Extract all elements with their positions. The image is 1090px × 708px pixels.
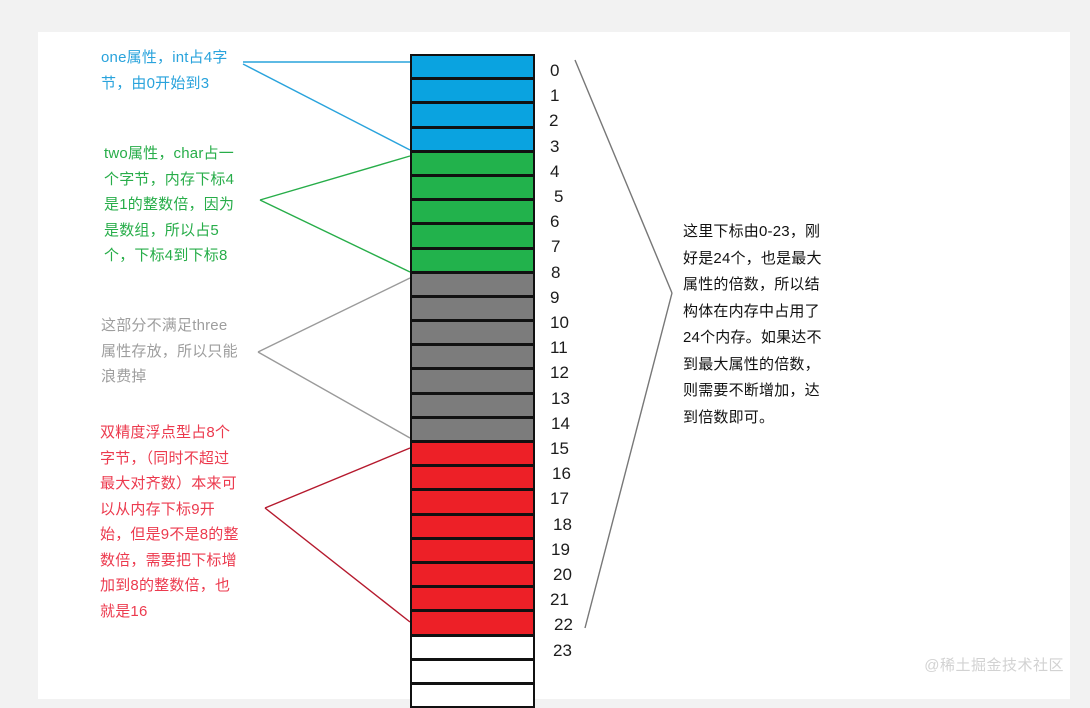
- memory-index-label: 10: [550, 314, 569, 331]
- memory-index-label: 16: [552, 465, 571, 482]
- memory-cell: [410, 538, 535, 563]
- memory-index-label: 11: [550, 339, 568, 356]
- memory-index-label: 1: [550, 87, 559, 104]
- memory-cell: [410, 562, 535, 587]
- memory-index-label: 12: [550, 364, 569, 381]
- memory-index-label: 21: [550, 591, 569, 608]
- memory-index-label: 9: [550, 289, 559, 306]
- diagram-canvas: 01234567891011121314151617181920212223 o…: [0, 0, 1090, 699]
- annotation-two-char: two属性，char占一个字节，内存下标4是1的整数倍，因为是数组，所以占5个，…: [104, 141, 244, 269]
- annotation-total-size: 这里下标由0-23，刚好是24个，也是最大属性的倍数，所以结构体在内存中占用了2…: [683, 219, 833, 431]
- memory-cell: [410, 127, 535, 152]
- memory-cell: [410, 151, 535, 176]
- memory-index-label: 2: [549, 112, 558, 129]
- annotation-one-int: one属性，int占4字节，由0开始到3: [101, 45, 246, 96]
- memory-cell: [410, 320, 535, 345]
- memory-index-label: 20: [553, 566, 572, 583]
- memory-index-label: 4: [550, 163, 559, 180]
- memory-cell: [410, 635, 535, 660]
- memory-cell: [410, 199, 535, 224]
- memory-cell: [410, 465, 535, 490]
- memory-cell: [410, 417, 535, 442]
- memory-index-label: 18: [553, 516, 572, 533]
- memory-cell: [410, 54, 535, 79]
- memory-cell: [410, 102, 535, 127]
- memory-index-label: 22: [554, 616, 573, 633]
- watermark: @稀土掘金技术社区: [924, 654, 1064, 675]
- memory-cell: [410, 248, 535, 273]
- memory-cell: [410, 393, 535, 418]
- memory-index-label: 5: [554, 188, 563, 205]
- memory-cell: [410, 659, 535, 684]
- memory-index-label: 7: [551, 238, 560, 255]
- memory-cell: [410, 296, 535, 321]
- memory-cell: [410, 78, 535, 103]
- memory-index-label: 14: [551, 415, 570, 432]
- memory-index-label: 3: [550, 138, 559, 155]
- memory-cell: [410, 368, 535, 393]
- memory-cell: [410, 223, 535, 248]
- memory-index-label: 8: [551, 264, 560, 281]
- memory-index-label: 0: [550, 62, 559, 79]
- memory-index-label: 19: [551, 541, 570, 558]
- memory-cell: [410, 344, 535, 369]
- memory-index-label: 13: [551, 390, 570, 407]
- memory-cell: [410, 610, 535, 635]
- memory-index-label: 23: [553, 642, 572, 659]
- memory-index-label: 6: [550, 213, 559, 230]
- memory-cell: [410, 586, 535, 611]
- memory-cell: [410, 175, 535, 200]
- memory-cell: [410, 272, 535, 297]
- annotation-padding: 这部分不满足three属性存放，所以只能浪费掉: [101, 313, 241, 390]
- memory-cell: [410, 514, 535, 539]
- memory-cell: [410, 683, 535, 708]
- memory-cell: [410, 489, 535, 514]
- memory-index-label: 15: [550, 440, 569, 457]
- annotation-three-double: 双精度浮点型占8个字节，（同时不超过最大对齐数）本来可以从内存下标9开始，但是9…: [100, 420, 240, 624]
- memory-cell-column: [410, 54, 535, 707]
- memory-index-label: 17: [550, 490, 569, 507]
- memory-cell: [410, 441, 535, 466]
